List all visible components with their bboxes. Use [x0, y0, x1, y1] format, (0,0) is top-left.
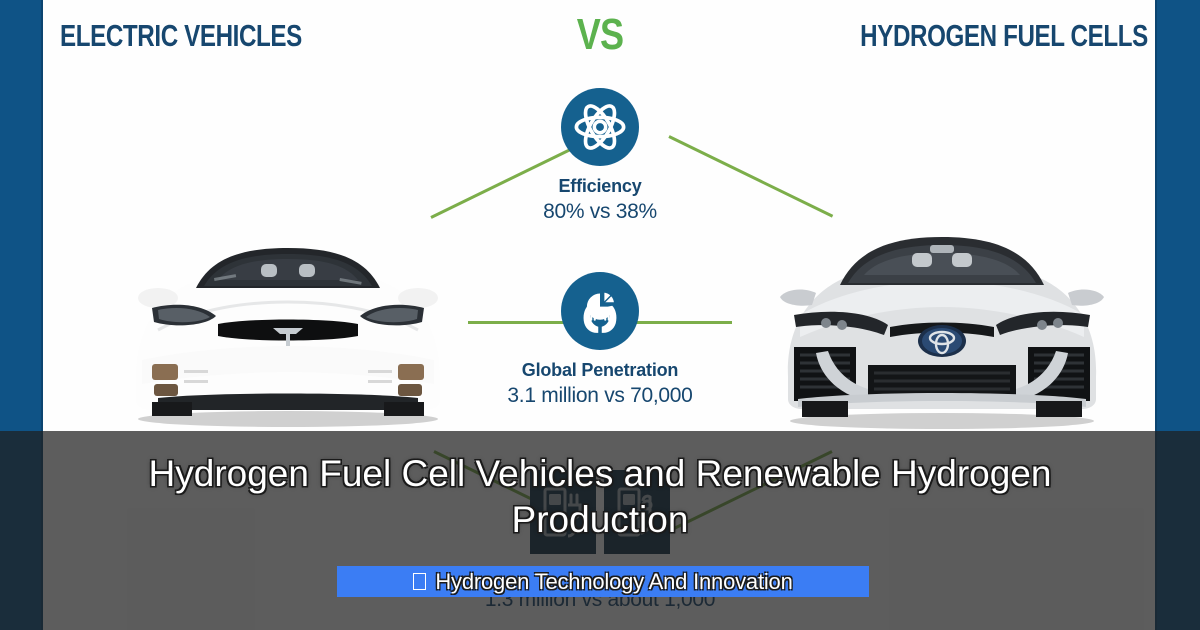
vehicle-tesla-model-x: [118, 212, 458, 432]
comparison-row-global-penetration: Global Penetration 3.1 million vs 70,000: [450, 272, 750, 408]
heading-vs: VS: [577, 10, 623, 60]
metric-value-global-penetration: 3.1 million vs 70,000: [450, 384, 750, 408]
atom-icon: [561, 88, 639, 166]
category-badge[interactable]: Hydrogen Technology And Innovation: [337, 566, 869, 597]
page-title: Hydrogen Fuel Cell Vehicles and Renewabl…: [0, 451, 1200, 543]
infographic-stage: ELECTRIC VEHICLES VS HYDROGEN FUEL CELLS: [0, 0, 1200, 630]
heading-electric-vehicles: ELECTRIC VEHICLES: [60, 18, 302, 54]
category-badge-label: Hydrogen Technology And Innovation: [435, 569, 792, 595]
vehicle-toyota-mirai: [772, 205, 1112, 435]
comparison-row-efficiency: Efficiency 80% vs 38%: [450, 88, 750, 224]
hands-holding-pie-chart-icon: [561, 272, 639, 350]
missing-glyph-box-icon: [413, 573, 426, 590]
metric-title-efficiency: Efficiency: [450, 176, 750, 197]
metric-value-efficiency: 80% vs 38%: [450, 200, 750, 224]
heading-hydrogen-fuel-cells: HYDROGEN FUEL CELLS: [860, 18, 1148, 54]
metric-title-global-penetration: Global Penetration: [450, 360, 750, 381]
